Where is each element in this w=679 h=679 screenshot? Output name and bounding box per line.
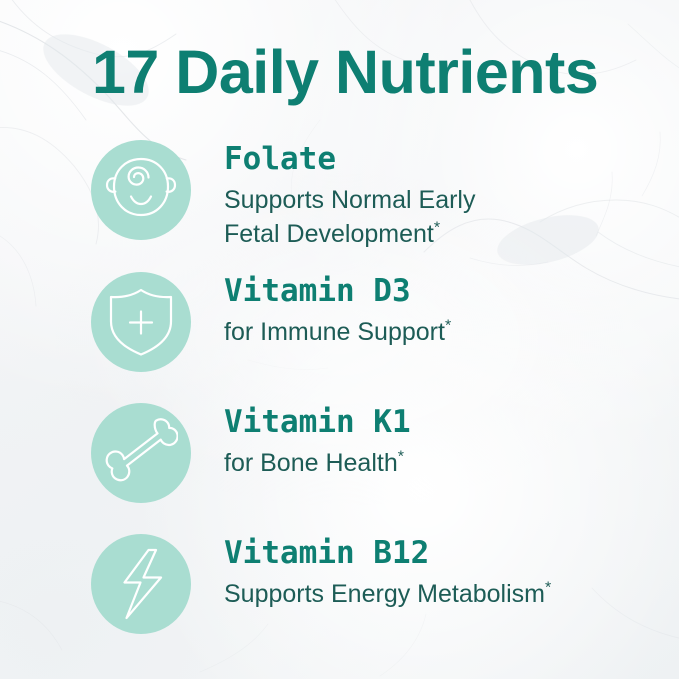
baby-face-icon bbox=[91, 140, 191, 240]
bone-icon bbox=[91, 403, 191, 503]
nutrient-row-vitamin-k1: Vitamin K1 for Bone Health* bbox=[91, 403, 411, 503]
nutrient-row-vitamin-b12: Vitamin B12 Supports Energy Metabolism* bbox=[91, 534, 551, 634]
nutrient-row-folate: Folate Supports Normal Early Fetal Devel… bbox=[91, 140, 475, 251]
nutrient-row-vitamin-d3: Vitamin D3 for Immune Support* bbox=[91, 272, 451, 372]
nutrient-description-text: Supports Energy Metabolism bbox=[224, 580, 545, 608]
nutrient-text-vitamin-d3: Vitamin D3 for Immune Support* bbox=[224, 272, 451, 349]
nutrient-text-vitamin-k1: Vitamin K1 for Bone Health* bbox=[224, 403, 411, 480]
nutrient-description: for Bone Health* bbox=[224, 446, 411, 480]
nutrient-description: Supports Energy Metabolism* bbox=[224, 577, 551, 611]
footnote-asterisk: * bbox=[545, 579, 551, 596]
footnote-asterisk: * bbox=[398, 448, 404, 465]
nutrients-infographic: 17 Daily Nutrients Folate Supports Norma… bbox=[0, 0, 679, 679]
nutrient-list: Folate Supports Normal Early Fetal Devel… bbox=[0, 0, 679, 679]
nutrient-text-folate: Folate Supports Normal Early Fetal Devel… bbox=[224, 140, 475, 251]
nutrient-description-text: Supports Normal Early Fetal Development bbox=[224, 186, 475, 248]
lightning-bolt-icon bbox=[91, 534, 191, 634]
nutrient-name: Folate bbox=[224, 142, 475, 177]
nutrient-description: for Immune Support* bbox=[224, 315, 451, 349]
nutrient-name: Vitamin K1 bbox=[224, 405, 411, 440]
shield-plus-icon bbox=[91, 272, 191, 372]
footnote-asterisk: * bbox=[445, 317, 451, 334]
nutrient-description: Supports Normal Early Fetal Development* bbox=[224, 183, 475, 251]
nutrient-description-text: for Bone Health bbox=[224, 449, 398, 477]
footnote-asterisk: * bbox=[434, 219, 440, 236]
nutrient-name: Vitamin B12 bbox=[224, 536, 551, 571]
nutrient-description-text: for Immune Support bbox=[224, 318, 445, 346]
nutrient-text-vitamin-b12: Vitamin B12 Supports Energy Metabolism* bbox=[224, 534, 551, 611]
nutrient-name: Vitamin D3 bbox=[224, 274, 451, 309]
